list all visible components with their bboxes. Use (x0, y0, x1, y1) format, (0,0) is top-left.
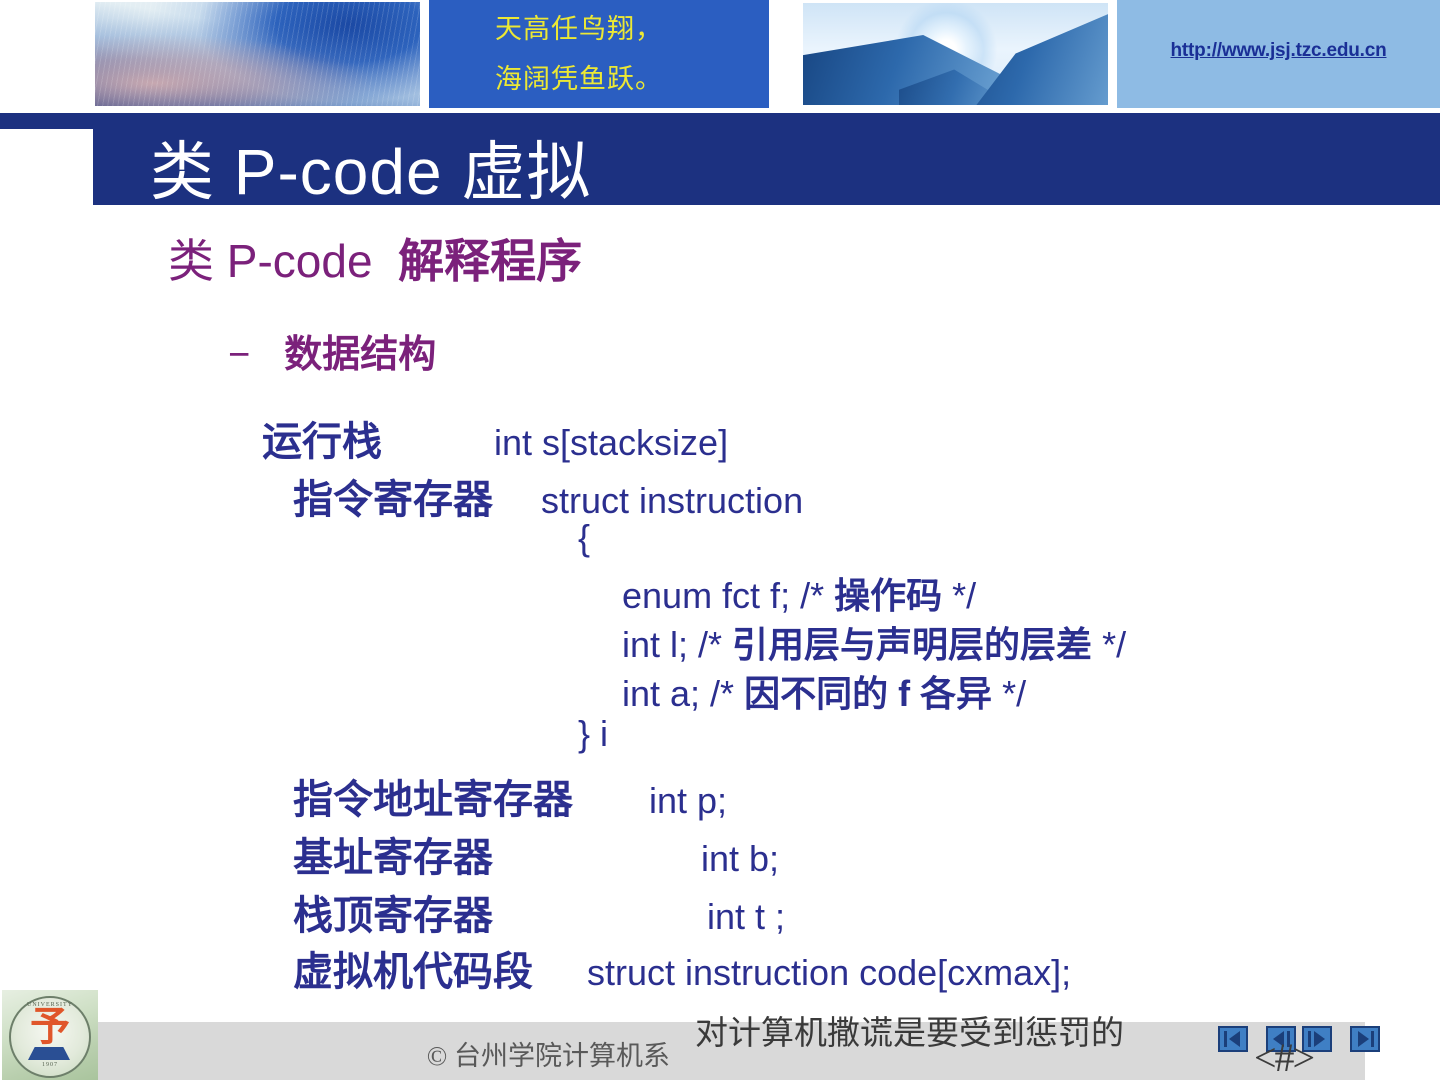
data-line-field-a: int a; /* 因不同的 f 各异 */ (622, 665, 1026, 717)
data-line-instruction-register: 指令寄存器struct instruction (293, 467, 803, 525)
data-line-field-l-comment: 引用层与声明层的层差 (732, 624, 1092, 665)
heading-level-1-plain: 类 P-code (168, 235, 373, 287)
logo-glyph: 予 (2, 1004, 98, 1050)
logo-ring-text-bottom: 1907 (2, 1062, 98, 1068)
heading-level-2: −数据结构 (228, 323, 436, 378)
website-url-link[interactable]: http://www.jsj.tzc.edu.cn (1117, 40, 1440, 62)
data-line-instruction-address-register-en: int p; (649, 780, 727, 821)
data-line-brace-close-en: } i (578, 713, 608, 754)
data-line-base-register-en: int b; (701, 838, 779, 879)
heading-level-1-bold: 解释程序 (398, 235, 582, 287)
first-slide-bar-icon (1224, 1031, 1227, 1047)
presentation-slide: 天高任鸟翔， 海阔凭鱼跃。 http://www.jsj.tzc.edu.cn … (0, 0, 1440, 1080)
data-line-top-register-cn: 栈顶寄存器 (293, 894, 493, 938)
header-banner: 天高任鸟翔， 海阔凭鱼跃。 http://www.jsj.tzc.edu.cn (0, 0, 1440, 113)
data-line-brace-open: { (578, 517, 590, 559)
heading-level-1: 类 P-code 解释程序 (168, 225, 582, 291)
data-line-field-a-code-after: */ (992, 673, 1026, 714)
data-line-brace-close: } i (578, 713, 608, 755)
next-slide-triangle-icon (1314, 1031, 1325, 1047)
data-line-code-segment: 虚拟机代码段struct instruction code[cxmax]; (293, 939, 1071, 997)
data-line-instruction-register-en: struct instruction (541, 480, 803, 521)
data-line-field-f: enum fct f; /* 操作码 */ (622, 567, 976, 619)
data-line-field-a-comment: 因不同的 f 各异 (744, 673, 992, 714)
logo-book-shape (28, 1047, 70, 1060)
data-line-field-f-code-before: enum fct f; /* (622, 575, 834, 616)
footer-copyright: © 台州学院计算机系 (340, 1034, 670, 1073)
data-line-run-stack-cn: 运行栈 (262, 420, 382, 464)
university-logo: UNIVERSITY 予 1907 (2, 990, 98, 1080)
website-url-block: http://www.jsj.tzc.edu.cn (1117, 0, 1440, 108)
data-line-code-segment-cn: 虚拟机代码段 (293, 950, 533, 994)
heading-level-2-label: 数据结构 (284, 334, 436, 376)
keyboard-hands-photo (95, 2, 420, 106)
data-line-run-stack: 运行栈int s[stacksize] (262, 409, 728, 467)
last-slide-button[interactable] (1350, 1026, 1380, 1052)
poem-line-1: 天高任鸟翔， (429, 4, 769, 54)
slide-title: 类 P-code 虚拟 (150, 121, 591, 213)
data-line-top-register: 栈顶寄存器int t ; (293, 883, 785, 941)
data-line-instruction-register-cn: 指令寄存器 (293, 478, 493, 522)
motion-streaks-overlay (95, 2, 420, 106)
data-line-field-a-code-before: int a; /* (622, 673, 744, 714)
data-line-run-stack-en: int s[stacksize] (494, 422, 728, 463)
last-slide-bar-icon (1371, 1031, 1374, 1047)
data-line-field-l: int l; /* 引用层与声明层的层差 */ (622, 616, 1126, 668)
data-line-code-segment-en: struct instruction code[cxmax]; (587, 952, 1071, 993)
data-line-top-register-en: int t ; (707, 896, 785, 937)
footer-quote: 对计算机撒谎是要受到惩罚的 (695, 1012, 1165, 1056)
first-slide-triangle-icon (1229, 1031, 1240, 1047)
first-slide-button[interactable] (1218, 1026, 1248, 1052)
data-line-field-l-code-after: */ (1092, 624, 1126, 665)
data-line-field-f-comment: 操作码 (834, 575, 942, 616)
slide-number-placeholder: <#> (1254, 1034, 1313, 1080)
data-line-base-register: 基址寄存器int b; (293, 825, 779, 883)
bullet-dash-icon: − (228, 334, 284, 376)
data-line-instruction-address-register: 指令地址寄存器int p; (293, 767, 727, 825)
data-line-brace-open-en: { (578, 517, 590, 558)
last-slide-triangle-icon (1358, 1031, 1369, 1047)
banner-poem-block: 天高任鸟翔， 海阔凭鱼跃。 (429, 0, 769, 108)
data-line-base-register-cn: 基址寄存器 (293, 836, 493, 880)
skyscrapers-photo (803, 3, 1108, 105)
data-line-field-l-code-before: int l; /* (622, 624, 732, 665)
data-line-instruction-address-register-cn: 指令地址寄存器 (293, 778, 573, 822)
poem-line-2: 海阔凭鱼跃。 (429, 54, 769, 104)
data-line-field-f-code-after: */ (942, 575, 976, 616)
